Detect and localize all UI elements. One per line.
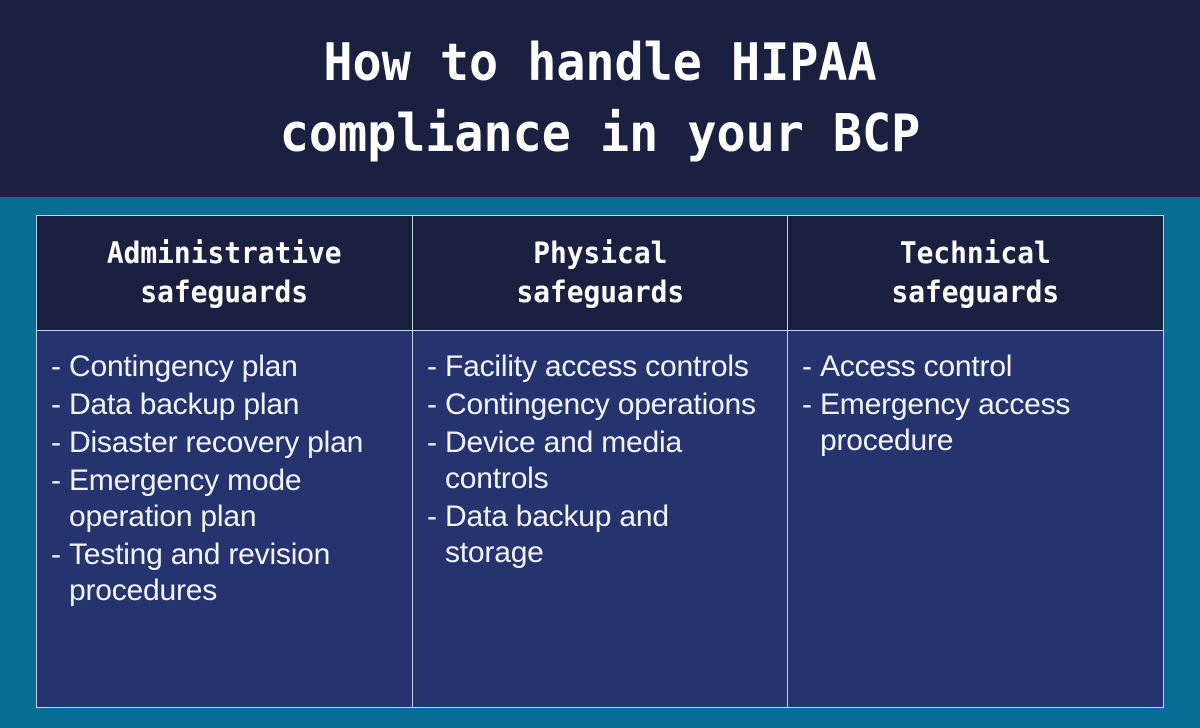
bullet-list: -Contingency plan-Data backup plan-Disas… (51, 349, 398, 609)
bullet-dash-icon: - (51, 387, 69, 423)
bullet-list: -Access control-Emergency access procedu… (802, 349, 1149, 459)
list-item-label: Device and media controls (445, 425, 773, 497)
title-band: How to handle HIPAA compliance in your B… (0, 0, 1200, 197)
list-item-label: Contingency plan (69, 349, 398, 385)
bullet-dash-icon: - (51, 463, 69, 499)
list-item: -Device and media controls (427, 425, 773, 497)
list-item-label: Access control (820, 349, 1149, 385)
table-header-technical-safeguards: Technical safeguards (788, 216, 1163, 330)
slide-canvas: How to handle HIPAA compliance in your B… (0, 0, 1200, 728)
list-item: -Emergency access procedure (802, 387, 1149, 459)
list-item-label: Emergency mode operation plan (69, 463, 398, 535)
table-cell-physical-safeguards: -Facility access controls-Contingency op… (413, 331, 788, 707)
list-item: -Contingency plan (51, 349, 398, 385)
table-header-row: Administrative safeguards Physical safeg… (37, 216, 1163, 331)
list-item: -Testing and revision procedures (51, 537, 398, 609)
bullet-list: -Facility access controls-Contingency op… (427, 349, 773, 571)
table-header-label: Technical safeguards (892, 234, 1060, 311)
bullet-dash-icon: - (427, 499, 445, 535)
list-item-label: Facility access controls (445, 349, 773, 385)
list-item-label: Disaster recovery plan (69, 425, 398, 461)
list-item: -Access control (802, 349, 1149, 385)
table-cell-technical-safeguards: -Access control-Emergency access procedu… (788, 331, 1163, 707)
table-header-label: Physical safeguards (516, 234, 684, 311)
list-item: -Facility access controls (427, 349, 773, 385)
bullet-dash-icon: - (427, 425, 445, 461)
table-header-administrative-safeguards: Administrative safeguards (37, 216, 413, 330)
bullet-dash-icon: - (802, 349, 820, 385)
page-title: How to handle HIPAA compliance in your B… (135, 28, 1065, 169)
bullet-dash-icon: - (51, 349, 69, 385)
bullet-dash-icon: - (802, 387, 820, 423)
list-item: -Data backup plan (51, 387, 398, 423)
bullet-dash-icon: - (427, 387, 445, 423)
list-item-label: Data backup and storage (445, 499, 773, 571)
list-item: -Emergency mode operation plan (51, 463, 398, 535)
bullet-dash-icon: - (51, 537, 69, 573)
list-item: -Disaster recovery plan (51, 425, 398, 461)
table-body-row: -Contingency plan-Data backup plan-Disas… (37, 331, 1163, 707)
safeguards-table: Administrative safeguards Physical safeg… (36, 215, 1164, 708)
list-item-label: Emergency access procedure (820, 387, 1149, 459)
table-cell-administrative-safeguards: -Contingency plan-Data backup plan-Disas… (37, 331, 413, 707)
list-item-label: Contingency operations (445, 387, 773, 423)
table-header-label: Administrative safeguards (107, 234, 342, 311)
list-item-label: Testing and revision procedures (69, 537, 398, 609)
table-header-physical-safeguards: Physical safeguards (413, 216, 788, 330)
list-item-label: Data backup plan (69, 387, 398, 423)
list-item: -Data backup and storage (427, 499, 773, 571)
bullet-dash-icon: - (427, 349, 445, 385)
bullet-dash-icon: - (51, 425, 69, 461)
list-item: -Contingency operations (427, 387, 773, 423)
